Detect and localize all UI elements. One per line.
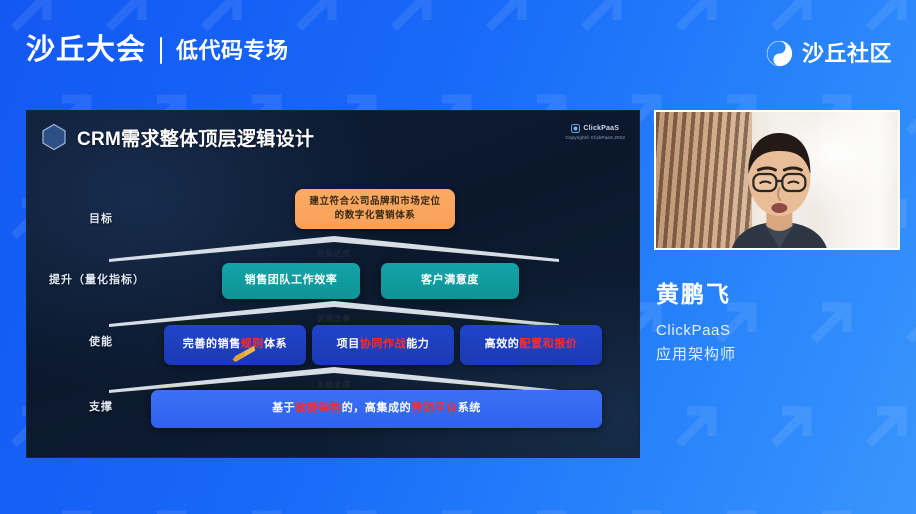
foundation-highlight-1: 敏捷架构 [295,401,341,417]
enabler-3-pre: 高效的 [485,337,520,353]
goal-box: 建立符合公司品牌和市场定位 的数字化营销体系 [295,189,455,229]
connector-label-support: 系统支撑 [109,379,559,390]
metric-box-sales-efficiency: 销售团队工作效率 [222,263,360,299]
presentation-slide: CRM需求整体顶层逻辑设计 ClickPaaS Copyright© Click… [26,110,640,458]
arrow-watermark-glyph [705,500,767,514]
clickpaas-branding: ClickPaaS Copyright© ClickPaaS 2022 [565,124,625,140]
arrow-watermark-glyph [0,292,7,354]
arrow-watermark-glyph [325,500,387,514]
clickpaas-mark-icon [571,124,580,133]
clickpaas-name: ClickPaaS [583,125,619,132]
speaker-role: 应用架构师 [656,343,906,366]
foundation-pre: 基于 [272,401,295,417]
arrow-watermark-glyph [895,500,916,514]
sandhill-logo-text: 沙丘社区 [802,43,892,65]
enabler-2-pre: 项目 [337,337,360,353]
arrow-watermark-glyph [40,500,102,514]
slide-title: CRM需求整体顶层逻辑设计 [77,124,314,151]
foundation-mid: 的，高集成的 [342,401,412,417]
event-subtitle: 低代码专场 [176,40,289,62]
connector-label-goal: 目标达成 [109,248,559,259]
arrow-watermark-glyph [135,500,197,514]
event-branding: 沙丘大会 低代码专场 [26,36,289,65]
arrow-watermark-glyph [855,396,916,458]
arrow-watermark-glyph [0,500,7,514]
metric-box-customer-satisfaction: 客户满意度 [381,263,519,299]
arrow-watermark-glyph [420,500,482,514]
vertical-divider [160,37,162,64]
row-label-enable: 使能 [89,333,113,349]
chevron-up-icon-goal: 目标达成 [109,236,559,262]
goal-box-line2: 的数字化营销体系 [309,209,440,223]
foundation-highlight-2: 营销平台 [411,401,457,417]
presentation-page: 沙丘大会 低代码专场 沙丘社区 CRM需求整体顶层逻辑设计 [0,0,916,514]
webcam-video-feed-icon[interactable] [654,110,900,250]
enabler-1-post: 体系 [264,337,287,353]
page-header: 沙丘大会 低代码专场 沙丘社区 [0,0,916,104]
speaker-portrait [720,120,838,250]
row-label-improve: 提升（量化指标） [49,271,145,287]
speaker-name: 黄鹏飞 [656,282,906,307]
row-label-support: 支撑 [89,398,113,414]
hexagon-icon [41,123,67,151]
sandhill-s-logo-icon [766,40,793,67]
arrow-watermark-glyph [760,396,822,458]
foundation-post: 系统 [458,401,481,417]
clickpaas-copyright: Copyright© ClickPaaS 2022 [565,135,625,140]
arrow-watermark-glyph [800,500,862,514]
chevron-up-icon-improve: 促进改善 [109,301,559,327]
enabler-box-collaboration: 项目协同作战能力 [312,325,454,365]
arrow-watermark-glyph [230,500,292,514]
event-title: 沙丘大会 [26,36,146,65]
connector-label-improve: 促进改善 [109,313,559,324]
sandhill-community-logo: 沙丘社区 [766,40,892,67]
enabler-2-highlight: 协同作战 [360,337,406,353]
goal-box-line1: 建立符合公司品牌和市场定位 [309,195,440,209]
speaker-info: 黄鹏飞 ClickPaaS 应用架构师 [656,282,906,366]
arrow-watermark-glyph [515,500,577,514]
enabler-box-config-quote: 高效的配置和报价 [460,325,602,365]
slide-title-row: CRM需求整体顶层逻辑设计 [41,123,314,151]
row-label-goal: 目标 [89,210,113,226]
arrow-watermark-glyph [665,396,727,458]
enabler-2-post: 能力 [406,337,429,353]
foundation-box-platform: 基于敏捷架构的，高集成的营销平台系统 [151,390,602,428]
arrow-watermark-glyph [610,500,672,514]
enabler-3-highlight: 配置和报价 [519,337,577,353]
speaker-organization: ClickPaaS [656,319,906,342]
